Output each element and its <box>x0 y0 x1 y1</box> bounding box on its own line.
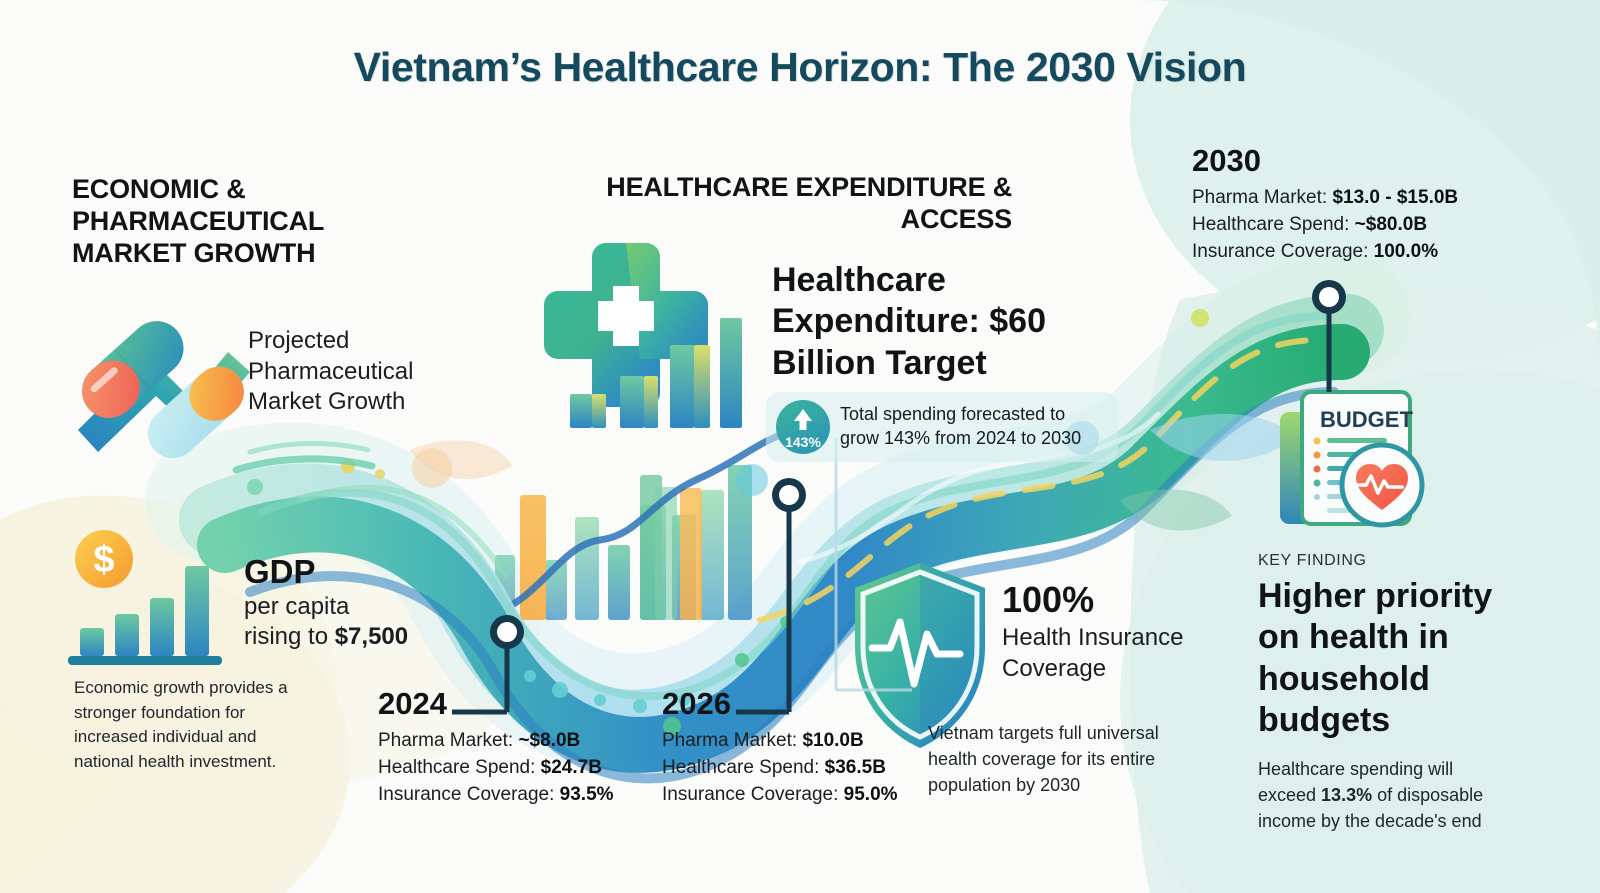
milestone-row: Insurance Coverage: 95.0% <box>662 782 898 809</box>
milestone-row-label: Insurance Coverage: <box>1192 241 1374 262</box>
gdp-title: GDP <box>244 552 474 592</box>
milestone-row-value: $13.0 - $15.0B <box>1332 187 1458 208</box>
milestone-row-label: Pharma Market: <box>378 730 518 751</box>
key-finding-headline: Higher priority on health in household b… <box>1258 576 1508 742</box>
coverage-block: 100% Health Insurance Coverage <box>1002 582 1202 684</box>
growth-badge-value: 143% <box>776 434 830 450</box>
milestone-year: 2030 <box>1192 145 1458 176</box>
milestone-row: Pharma Market: $10.0B <box>662 728 898 755</box>
milestone-row: Healthcare Spend: $24.7B <box>378 755 614 782</box>
milestone-row: Healthcare Spend: $36.5B <box>662 755 898 782</box>
milestone-row-value: $24.7B <box>541 757 602 778</box>
milestone-card-2030: 2030 Pharma Market: $13.0 - $15.0B Healt… <box>1192 145 1458 266</box>
milestone-year: 2026 <box>662 688 898 719</box>
coverage-value: 100% <box>1002 582 1202 618</box>
milestone-row-value: 100.0% <box>1374 241 1438 262</box>
milestone-row-value: $36.5B <box>825 757 886 778</box>
gdp-line2-prefix: rising to <box>244 623 335 650</box>
growth-badge: 143% <box>776 400 830 454</box>
coverage-label: Health Insurance Coverage <box>1002 622 1202 684</box>
milestone-row-label: Insurance Coverage: <box>662 784 844 805</box>
up-arrow-stem <box>800 420 807 430</box>
milestone-row: Insurance Coverage: 93.5% <box>378 782 614 809</box>
milestone-row: Pharma Market: $13.0 - $15.0B <box>1192 185 1458 212</box>
gdp-line1: per capita <box>244 592 474 623</box>
section-heading-expenditure: HEALTHCARE EXPENDITURE & ACCESS <box>552 172 1012 236</box>
pill-caption: Projected Pharmaceutical Market Growth <box>248 326 448 418</box>
milestone-row-label: Pharma Market: <box>662 730 802 751</box>
gdp-block: GDP per capita rising to $7,500 <box>244 552 474 653</box>
milestone-card-2026: 2026 Pharma Market: $10.0B Healthcare Sp… <box>662 688 898 809</box>
key-finding-kicker: KEY FINDING <box>1258 552 1508 570</box>
page-title: Vietnam’s Healthcare Horizon: The 2030 V… <box>0 44 1600 91</box>
milestone-row-value: ~$80.0B <box>1355 214 1427 235</box>
milestone-row-value: 95.0% <box>844 784 898 805</box>
milestone-row-label: Pharma Market: <box>1192 187 1332 208</box>
milestone-row-value: $10.0B <box>802 730 863 751</box>
milestone-year: 2024 <box>378 688 614 719</box>
expenditure-title: Healthcare Expenditure: $60 Billion Targ… <box>772 260 1062 384</box>
gdp-line2: rising to $7,500 <box>244 622 474 653</box>
milestone-row: Healthcare Spend: ~$80.0B <box>1192 212 1458 239</box>
growth-badge-caption: Total spending forecasted to grow 143% f… <box>840 403 1108 451</box>
key-finding-block: KEY FINDING Higher priority on health in… <box>1258 552 1508 834</box>
milestone-row-label: Healthcare Spend: <box>1192 214 1355 235</box>
milestone-card-2024: 2024 Pharma Market: ~$8.0B Healthcare Sp… <box>378 688 614 809</box>
milestone-row-value: 93.5% <box>560 784 614 805</box>
key-finding-note: Healthcare spending will exceed 13.3% of… <box>1258 756 1508 834</box>
milestone-row: Pharma Market: ~$8.0B <box>378 728 614 755</box>
gdp-value: $7,500 <box>335 623 408 650</box>
milestone-row-label: Insurance Coverage: <box>378 784 560 805</box>
key-finding-note-value: 13.3% <box>1321 785 1372 805</box>
section-heading-economic: ECONOMIC & PHARMACEUTICAL MARKET GROWTH <box>72 174 432 270</box>
coverage-note: Vietnam targets full universal health co… <box>928 720 1188 798</box>
economic-footnote: Economic growth provides a stronger foun… <box>74 676 314 775</box>
growth-callout-card: 143% Total spending forecasted to grow 1… <box>766 392 1118 462</box>
infographic-canvas: $ <box>0 0 1600 893</box>
milestone-row-label: Healthcare Spend: <box>662 757 825 778</box>
milestone-row: Insurance Coverage: 100.0% <box>1192 239 1458 266</box>
milestone-row-label: Healthcare Spend: <box>378 757 541 778</box>
milestone-row-value: ~$8.0B <box>518 730 580 751</box>
